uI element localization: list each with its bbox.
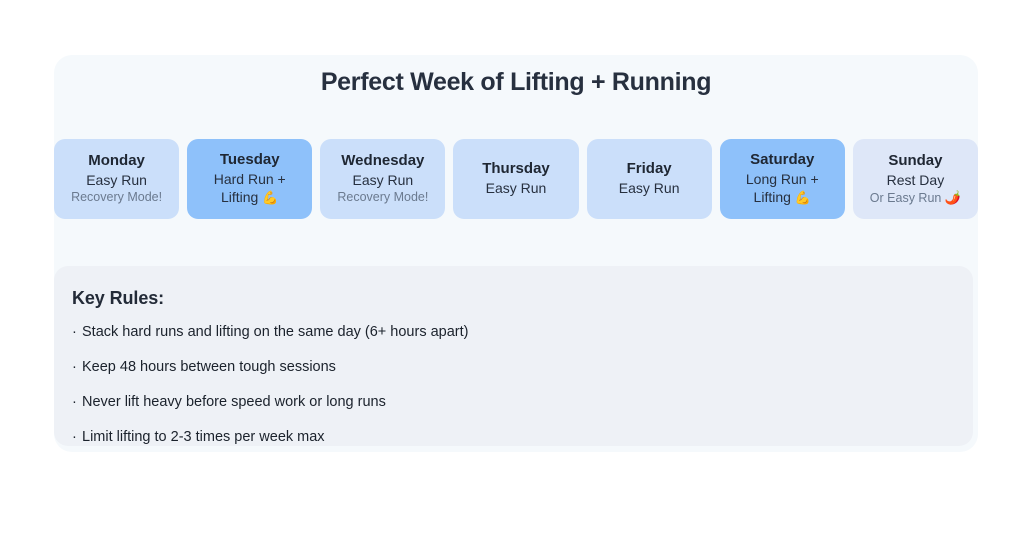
day-activity: Long Run +: [746, 170, 819, 188]
day-note: Or Easy Run: [870, 191, 942, 205]
weekly-plan-panel: Perfect Week of Lifting + Running Monday…: [54, 55, 978, 452]
day-card-saturday[interactable]: Saturday Long Run + Lifting 💪: [720, 139, 845, 219]
bullet-icon: ·: [72, 323, 77, 342]
rule-text: Limit lifting to 2-3 times per week max: [82, 429, 325, 445]
day-name: Wednesday: [341, 152, 424, 171]
list-item: ·Never lift heavy before speed work or l…: [72, 393, 973, 412]
day-card-thursday[interactable]: Thursday Easy Run: [453, 139, 578, 219]
day-name: Sunday: [888, 152, 942, 171]
rule-text: Never lift heavy before speed work or lo…: [82, 394, 386, 410]
day-note-row: Or Easy Run 🌶️: [870, 189, 961, 207]
list-item: ·Limit lifting to 2-3 times per week max: [72, 428, 973, 447]
day-activity: Easy Run: [86, 171, 147, 189]
day-card-friday[interactable]: Friday Easy Run: [587, 139, 712, 219]
list-item: ·Stack hard runs and lifting on the same…: [72, 323, 973, 342]
day-activity: Hard Run +: [214, 170, 286, 188]
page-title: Perfect Week of Lifting + Running: [54, 68, 978, 97]
day-name: Saturday: [750, 151, 814, 170]
day-card-wednesday[interactable]: Wednesday Easy Run Recovery Mode!: [320, 139, 445, 219]
day-name: Friday: [627, 160, 672, 179]
day-note: Recovery Mode!: [71, 189, 162, 206]
day-name: Tuesday: [220, 151, 280, 170]
flexed-biceps-icon: 💪: [262, 190, 278, 205]
rule-text: Stack hard runs and lifting on the same …: [82, 324, 468, 340]
day-note: Recovery Mode!: [337, 189, 428, 206]
day-activity: Easy Run: [353, 171, 414, 189]
hot-pepper-icon: 🌶️: [945, 190, 961, 205]
list-item: ·Keep 48 hours between tough sessions: [72, 358, 973, 377]
day-card-sunday[interactable]: Sunday Rest Day Or Easy Run 🌶️: [853, 139, 978, 219]
day-activity: Easy Run: [486, 179, 547, 197]
key-rules-title: Key Rules:: [72, 288, 973, 309]
day-note: Lifting: [754, 189, 791, 205]
week-day-row: Monday Easy Run Recovery Mode! Tuesday H…: [54, 139, 978, 219]
bullet-icon: ·: [72, 393, 77, 412]
day-name: Thursday: [482, 160, 550, 179]
day-activity-secondary: Lifting 💪: [754, 188, 811, 207]
day-name: Monday: [88, 152, 145, 171]
day-activity: Rest Day: [887, 171, 945, 189]
day-card-monday[interactable]: Monday Easy Run Recovery Mode!: [54, 139, 179, 219]
bullet-icon: ·: [72, 428, 77, 447]
rule-text: Keep 48 hours between tough sessions: [82, 359, 336, 375]
day-card-tuesday[interactable]: Tuesday Hard Run + Lifting 💪: [187, 139, 312, 219]
key-rules-list: ·Stack hard runs and lifting on the same…: [72, 323, 973, 446]
key-rules-panel: Key Rules: ·Stack hard runs and lifting …: [54, 266, 973, 446]
bullet-icon: ·: [72, 358, 77, 377]
day-activity: Easy Run: [619, 179, 680, 197]
day-activity-secondary: Lifting 💪: [221, 188, 278, 207]
day-note: Lifting: [221, 189, 258, 205]
flexed-biceps-icon: 💪: [795, 190, 811, 205]
